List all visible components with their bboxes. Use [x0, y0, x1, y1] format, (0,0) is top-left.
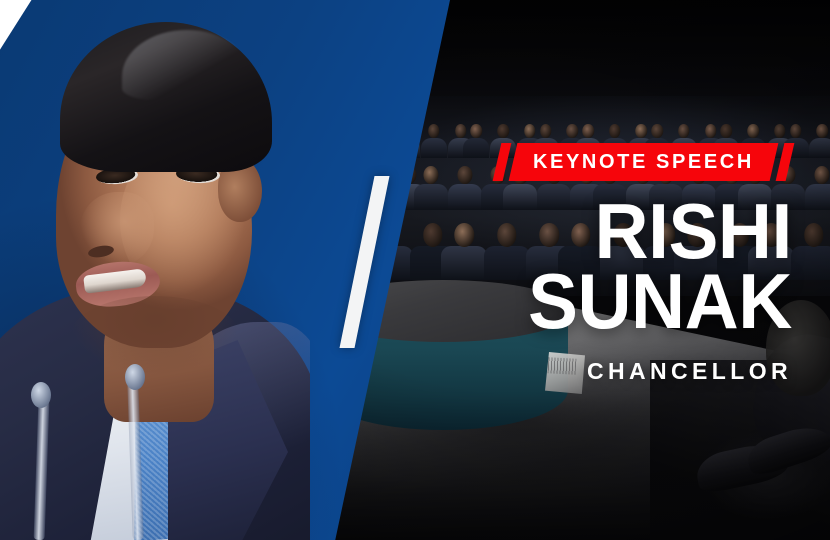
audience-member-head — [471, 124, 483, 138]
audience-member-head — [817, 124, 829, 138]
microphone-head — [31, 382, 51, 408]
audience-member-head — [678, 124, 690, 138]
audience-member-head — [540, 124, 552, 138]
audience-member-head — [497, 223, 516, 246]
subject-last-name: SUNAK — [528, 266, 792, 336]
audience-member — [441, 223, 487, 280]
banner-label: KEYNOTE SPEECH — [533, 152, 754, 172]
audience-member-head — [428, 124, 440, 138]
keynote-banner[interactable]: KEYNOTE SPEECH — [497, 143, 790, 181]
microphone-head — [125, 364, 145, 390]
audience-member-head — [747, 124, 759, 138]
audience-member-head — [424, 166, 439, 184]
subject-portrait — [0, 0, 310, 540]
audience-member-head — [423, 223, 442, 246]
audience-member-head — [457, 166, 472, 184]
subject-name-block: RISHI SUNAK CHANCELLOR — [517, 196, 792, 385]
audience-member-head — [651, 124, 663, 138]
portrait-jaw-shadow — [70, 296, 240, 376]
title-card-graphic: KEYNOTE SPEECH RISHI SUNAK CHANCELLOR — [0, 0, 830, 540]
audience-member-head — [814, 166, 829, 184]
audience-member-head — [582, 124, 594, 138]
audience-member — [791, 223, 830, 280]
audience-member-head — [609, 124, 621, 138]
subject-first-name: RISHI — [528, 196, 792, 266]
audience-member-head — [804, 223, 823, 246]
audience-member-head — [455, 223, 474, 246]
audience-member-head — [721, 124, 733, 138]
audience-member-body — [791, 246, 830, 280]
audience-member-head — [790, 124, 802, 138]
audience-member-head — [497, 124, 509, 138]
banner-box: KEYNOTE SPEECH — [509, 143, 779, 181]
subject-role: CHANCELLOR — [517, 358, 792, 385]
audience-member-body — [441, 246, 487, 280]
